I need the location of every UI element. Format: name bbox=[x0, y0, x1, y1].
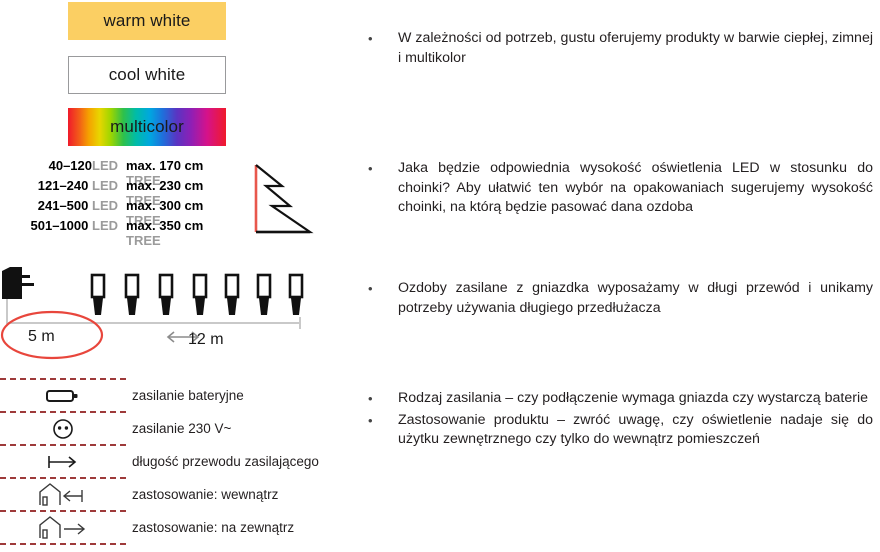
legend-divider bbox=[0, 444, 126, 446]
bullet-text: Rodzaj zasilania – czy podłączenie wymag… bbox=[398, 389, 873, 409]
cable-length-arrow-icon bbox=[0, 448, 126, 476]
swatch-warm-white-label: warm white bbox=[104, 11, 191, 31]
swatch-multicolor-label: multicolor bbox=[110, 117, 184, 137]
legend-divider bbox=[0, 510, 126, 512]
led-range-value: 121–240 bbox=[38, 178, 89, 193]
legend-label: zasilanie bateryjne bbox=[132, 388, 244, 403]
led-range-value: 241–500 bbox=[38, 198, 89, 213]
bullet-text: W zależności od potrzeb, gustu oferujemy… bbox=[398, 29, 873, 68]
power-plug-icon bbox=[2, 267, 34, 299]
list-item: zasilanie bateryjne bbox=[0, 378, 330, 411]
bullet-marker: • bbox=[368, 389, 398, 409]
bullet-group-colour-options: • W zależności od potrzeb, gustu oferuje… bbox=[368, 29, 873, 70]
tree-height-value: max. 350 cm bbox=[126, 218, 203, 233]
spec-led-count: 501–1000 LED bbox=[0, 218, 118, 233]
led-bulb bbox=[160, 275, 172, 315]
tree-height-value: max. 170 cm bbox=[126, 158, 203, 173]
led-unit: LED bbox=[92, 198, 118, 213]
led-unit: LED bbox=[92, 218, 118, 233]
bullet-marker: • bbox=[368, 279, 398, 318]
swatch-cool-white-label: cool white bbox=[109, 65, 186, 85]
bullet-marker: • bbox=[368, 159, 398, 218]
house-outdoor-icon bbox=[0, 514, 126, 542]
led-bulb bbox=[258, 275, 270, 315]
list-item: zasilanie 230 V~ bbox=[0, 411, 330, 444]
legend-divider bbox=[0, 411, 126, 413]
legend-divider bbox=[0, 543, 126, 545]
tree-height-value: max. 300 cm bbox=[126, 198, 203, 213]
list-item: • Zastosowanie produktu – zwróć uwagę, c… bbox=[368, 411, 873, 450]
spec-led-count: 40–120LED bbox=[0, 158, 118, 173]
christmas-tree-icon bbox=[252, 162, 314, 238]
spec-tree-height: max. 350 cm TREE bbox=[118, 218, 238, 248]
right-text-column: • W zależności od potrzeb, gustu oferuje… bbox=[368, 0, 880, 552]
spec-led-count: 241–500 LED bbox=[0, 198, 118, 213]
led-bulb bbox=[226, 275, 238, 315]
led-range-value: 40–120 bbox=[49, 158, 92, 173]
bullet-group-cable-length: • Ozdoby zasilane z gniazdka wyposażamy … bbox=[368, 279, 873, 320]
bullet-text: Jaka będzie odpowiednia wysokość oświetl… bbox=[398, 159, 873, 218]
legend-label: zasilanie 230 V~ bbox=[132, 421, 231, 436]
led-bulb bbox=[194, 275, 206, 315]
symbol-legend: zasilanie bateryjne zasilanie 230 V~ bbox=[0, 378, 330, 543]
led-bulb bbox=[92, 275, 104, 315]
led-bulb bbox=[290, 275, 302, 315]
bullet-group-tree-height: • Jaka będzie odpowiednia wysokość oświe… bbox=[368, 159, 873, 220]
tree-unit: TREE bbox=[126, 233, 161, 248]
swatch-warm-white: warm white bbox=[68, 2, 226, 40]
list-item: • Jaka będzie odpowiednia wysokość oświe… bbox=[368, 159, 873, 218]
legend-divider bbox=[0, 378, 126, 380]
led-range-value: 501–1000 bbox=[31, 218, 89, 233]
bullet-marker: • bbox=[368, 411, 398, 450]
list-item: • Rodzaj zasilania – czy podłączenie wym… bbox=[368, 389, 873, 409]
led-unit: LED bbox=[92, 158, 118, 173]
spec-led-count: 121–240 LED bbox=[0, 178, 118, 193]
swatch-cool-white: cool white bbox=[68, 56, 226, 94]
swatch-multicolor: multicolor bbox=[68, 108, 226, 146]
lit-length-label: 12 m bbox=[188, 331, 224, 349]
bullet-text: Zastosowanie produktu – zwróć uwagę, czy… bbox=[398, 411, 873, 450]
legend-label: długość przewodu zasilającego bbox=[132, 454, 319, 469]
list-item: • W zależności od potrzeb, gustu oferuje… bbox=[368, 29, 873, 68]
legend-label: zastosowanie: wewnątrz bbox=[132, 487, 278, 502]
light-chain-diagram bbox=[0, 265, 320, 373]
list-item: długość przewodu zasilającego bbox=[0, 444, 330, 477]
power-socket-icon bbox=[0, 415, 126, 443]
bullet-group-power-and-usage: • Rodzaj zasilania – czy podłączenie wym… bbox=[368, 389, 873, 452]
left-illustration-column: warm white cool white multicolor 40–120L… bbox=[0, 0, 340, 552]
list-item: zastosowanie: wewnątrz bbox=[0, 477, 330, 510]
legend-label: zastosowanie: na zewnątrz bbox=[132, 520, 294, 535]
house-indoor-icon bbox=[0, 481, 126, 509]
lead-length-label: 5 m bbox=[28, 328, 55, 346]
led-unit: LED bbox=[92, 178, 118, 193]
battery-icon bbox=[0, 382, 126, 410]
led-bulb bbox=[126, 275, 138, 315]
bullet-marker: • bbox=[368, 29, 398, 68]
legend-divider bbox=[0, 477, 126, 479]
tree-height-value: max. 230 cm bbox=[126, 178, 203, 193]
bullet-text: Ozdoby zasilane z gniazdka wyposażamy w … bbox=[398, 279, 873, 318]
list-item: zastosowanie: na zewnątrz bbox=[0, 510, 330, 543]
list-item: • Ozdoby zasilane z gniazdka wyposażamy … bbox=[368, 279, 873, 318]
product-info-infographic: warm white cool white multicolor 40–120L… bbox=[0, 0, 880, 552]
